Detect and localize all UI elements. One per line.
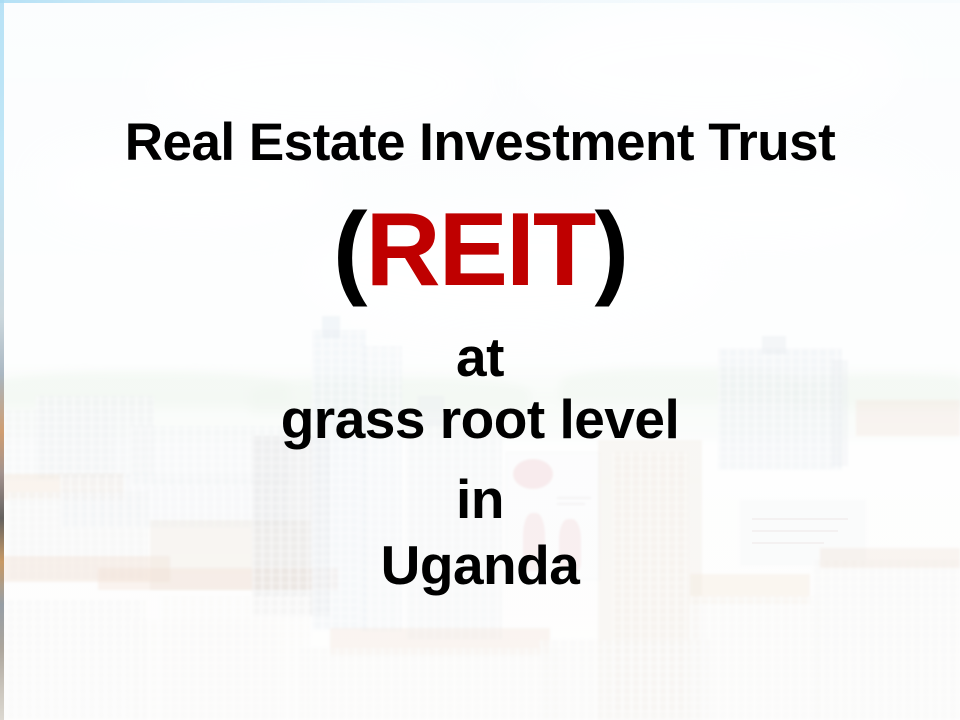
open-paren: (	[333, 192, 366, 308]
slide-text-layer: Real Estate Investment Trust (REIT) at g…	[0, 0, 960, 720]
slide-title: Real Estate Investment Trust	[0, 116, 960, 169]
abbreviation-line: (REIT)	[0, 198, 960, 302]
subtitle-line-in: in	[0, 472, 960, 527]
reit-abbreviation: REIT	[366, 192, 595, 308]
close-paren: )	[594, 192, 627, 308]
subtitle-line-grass-root-level: grass root level	[0, 392, 960, 447]
subtitle-line-at: at	[0, 330, 960, 385]
subtitle-line-uganda: Uganda	[0, 538, 960, 593]
presentation-slide: Real Estate Investment Trust (REIT) at g…	[0, 0, 960, 720]
